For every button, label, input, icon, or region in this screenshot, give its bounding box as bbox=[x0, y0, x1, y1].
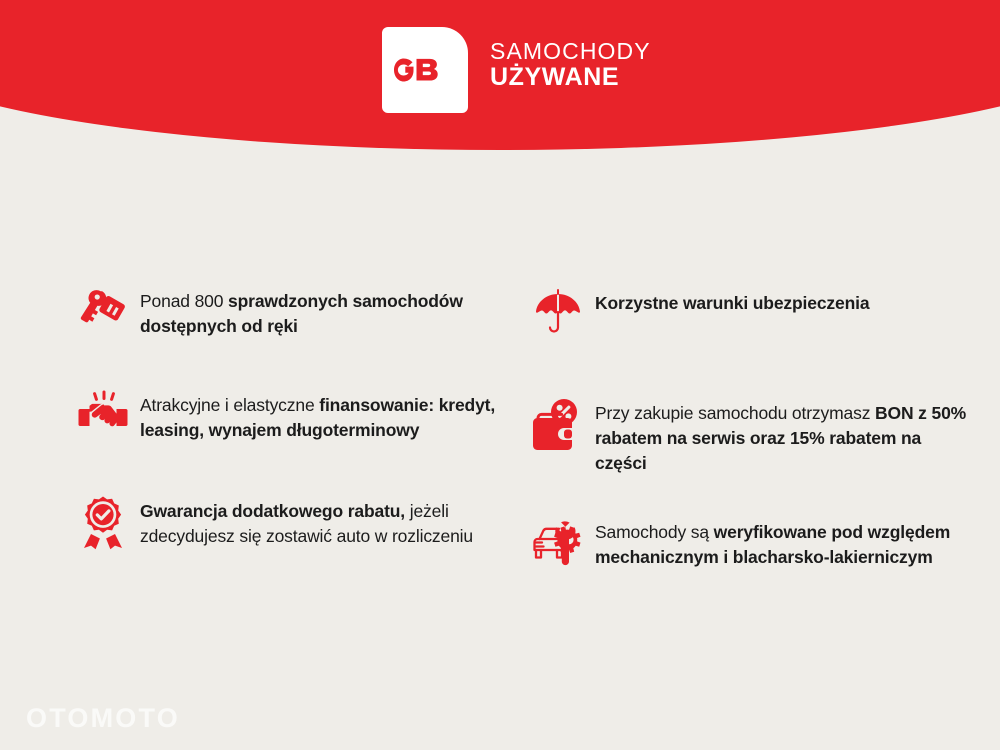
benefit-item: Korzystne warunki ubezpieczenia bbox=[533, 288, 973, 350]
otomoto-watermark: OTOMOTO bbox=[26, 703, 180, 734]
benefits-column-right: Korzystne warunki ubezpieczenia bbox=[533, 270, 973, 579]
benefit-text: Gwarancja dodatkowego rabatu, jeżeli zde… bbox=[140, 496, 518, 549]
umbrella-icon bbox=[533, 288, 595, 350]
award-badge-icon bbox=[78, 496, 140, 558]
benefit-text: Atrakcyjne i elastyczne finansowanie: kr… bbox=[140, 390, 518, 443]
benefit-item: Ponad 800 sprawdzonych samochodów dostęp… bbox=[78, 286, 518, 348]
car-key-icon bbox=[78, 286, 140, 348]
car-wrench-icon bbox=[533, 517, 595, 579]
benefit-text: Samochody są weryfikowane pod względem m… bbox=[595, 517, 973, 570]
brand-line-2: UŻYWANE bbox=[490, 64, 651, 90]
benefit-item: Przy zakupie samochodu otrzymasz BON z 5… bbox=[533, 398, 973, 477]
brand-logo: SAMOCHODY UŻYWANE bbox=[382, 27, 682, 107]
benefits-grid: Ponad 800 sprawdzonych samochodów dostęp… bbox=[0, 270, 1000, 620]
benefit-text: Przy zakupie samochodu otrzymasz BON z 5… bbox=[595, 398, 973, 477]
brand-line-1: SAMOCHODY bbox=[490, 40, 651, 64]
benefits-column-left: Ponad 800 sprawdzonych samochodów dostęp… bbox=[78, 270, 518, 558]
benefit-text: Korzystne warunki ubezpieczenia bbox=[595, 288, 973, 316]
handshake-icon bbox=[78, 390, 140, 452]
benefit-text: Ponad 800 sprawdzonych samochodów dostęp… bbox=[140, 286, 518, 339]
benefit-item: Samochody są weryfikowane pod względem m… bbox=[533, 517, 973, 579]
wallet-percent-icon bbox=[533, 398, 595, 460]
gb-logo-mark bbox=[382, 27, 468, 113]
benefit-item: Atrakcyjne i elastyczne finansowanie: kr… bbox=[78, 390, 518, 452]
benefit-item: Gwarancja dodatkowego rabatu, jeżeli zde… bbox=[78, 496, 518, 558]
brand-wordmark: SAMOCHODY UŻYWANE bbox=[490, 27, 651, 90]
